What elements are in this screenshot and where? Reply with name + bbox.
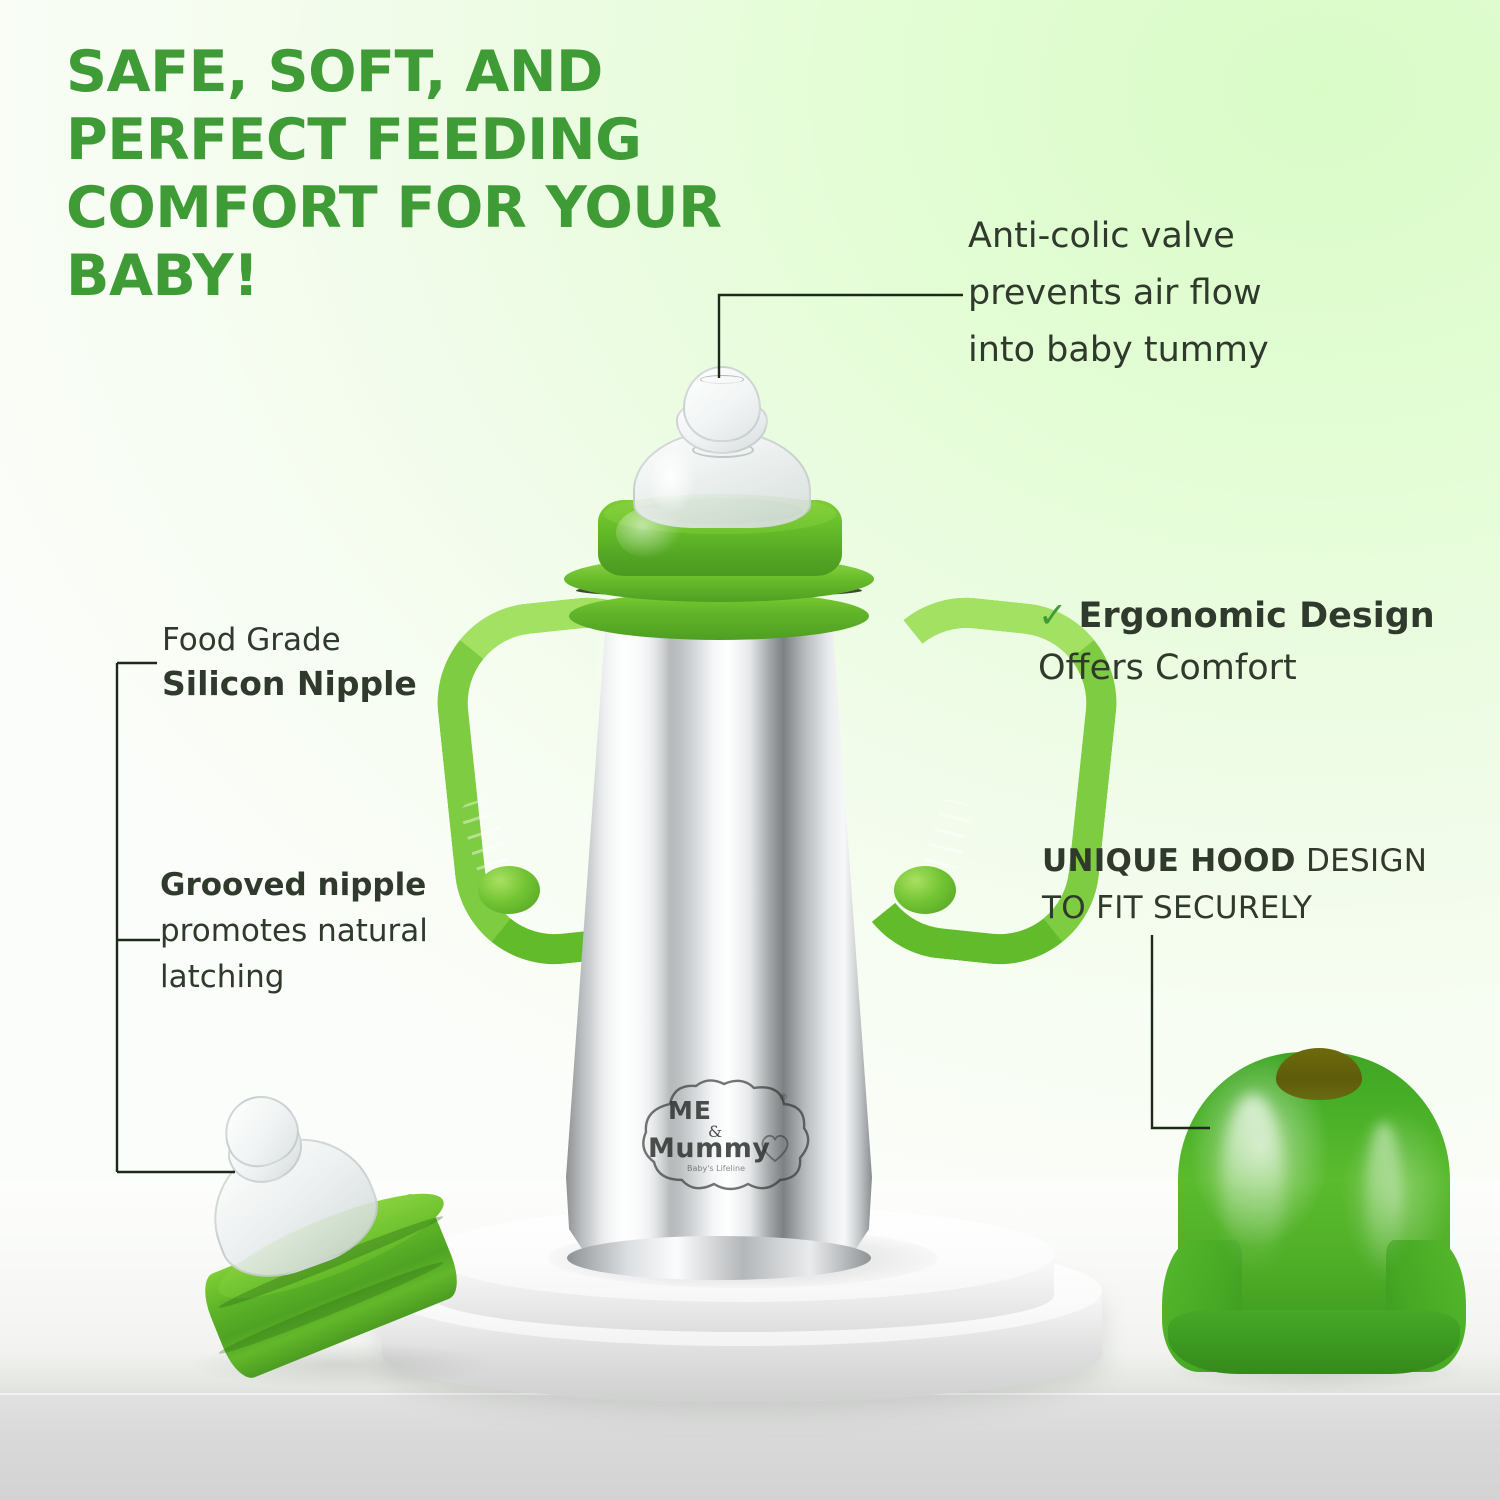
- callout-food-grade-nipple: Food Grade Silicon Nipple: [162, 618, 502, 706]
- hood-gloss-right: [1366, 1122, 1402, 1272]
- callout-anticolic-valve: Anti-colic valve prevents air flow into …: [968, 208, 1368, 379]
- anticolic-line-3: into baby tummy: [968, 322, 1368, 379]
- green-hood-cap: [1178, 1052, 1450, 1372]
- nipple-highlight: [650, 452, 696, 514]
- anticolic-line-1: Anti-colic valve: [968, 208, 1368, 265]
- hood-line-2: TO FIT SECURELY: [1042, 885, 1482, 932]
- brand-logo: ME & Mummy Baby's Lifeline ®: [630, 1078, 820, 1196]
- food-grade-bold: Silicon Nipple: [162, 662, 502, 706]
- headline-line-2: PERFECT FEEDING: [66, 106, 766, 174]
- anticolic-line-2: prevents air flow: [968, 265, 1368, 322]
- hood-heading-regular: DESIGN: [1296, 843, 1427, 879]
- page-title: SAFE, SOFT, AND PERFECT FEEDING COMFORT …: [66, 38, 766, 310]
- headline-line-4: BABY!: [66, 242, 766, 310]
- hood-heading-bold: UNIQUE HOOD: [1042, 843, 1296, 879]
- food-grade-regular: Food Grade: [162, 618, 502, 662]
- headline-line-3: COMFORT FOR YOUR: [66, 174, 766, 242]
- hood-base-band: [1168, 1310, 1460, 1374]
- ergonomic-subtext: Offers Comfort: [1038, 642, 1488, 694]
- headline-line-1: SAFE, SOFT, AND: [66, 38, 766, 106]
- grooved-line-2: promotes natural: [160, 908, 490, 954]
- checkmark-icon: ✓: [1038, 596, 1067, 636]
- anti-colic-valve-slit: [700, 375, 744, 384]
- hood-gloss-left: [1222, 1094, 1284, 1274]
- ergonomic-heading: Ergonomic Design: [1078, 596, 1434, 636]
- grooved-heading: Grooved nipple: [160, 862, 490, 908]
- logo-text-me: ME: [668, 1096, 712, 1125]
- callout-unique-hood: UNIQUE HOOD DESIGN TO FIT SECURELY: [1042, 838, 1482, 932]
- hood-heading-row: UNIQUE HOOD DESIGN: [1042, 838, 1482, 885]
- callout-ergonomic-design: ✓ Ergonomic Design Offers Comfort: [1038, 590, 1488, 694]
- logo-heart-icon: [758, 1130, 792, 1164]
- ergonomic-heading-row: ✓ Ergonomic Design: [1038, 590, 1488, 642]
- logo-tagline: Baby's Lifeline: [686, 1164, 746, 1173]
- detached-nipple-collar-assembly: [180, 1110, 500, 1400]
- infographic-canvas: ME & Mummy Baby's Lifeline ®: [0, 0, 1500, 1500]
- bottle-bottom-edge: [567, 1236, 871, 1280]
- registered-trademark-icon: ®: [780, 1092, 787, 1102]
- logo-text-mummy: Mummy: [648, 1133, 770, 1164]
- callout-grooved-nipple: Grooved nipple promotes natural latching: [160, 862, 490, 1000]
- grooved-line-3: latching: [160, 954, 490, 1000]
